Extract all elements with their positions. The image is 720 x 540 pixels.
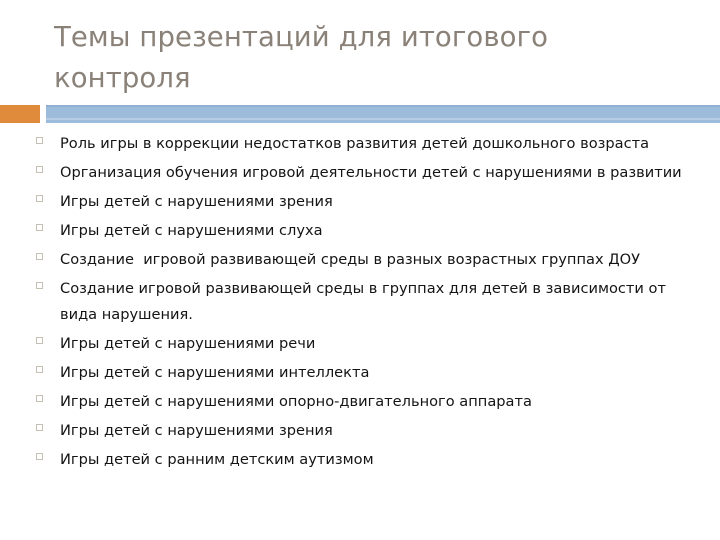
list-item: Игры детей с ранним детским аутизмом — [30, 447, 706, 473]
bullet-list: Роль игры в коррекции недостатков развит… — [30, 131, 706, 476]
page-title: Темы презентаций для итогового контроля — [54, 17, 654, 99]
hollow-square-bullet-icon — [36, 253, 43, 260]
hollow-square-bullet-icon — [36, 366, 43, 373]
list-item: Игры детей с нарушениями зрения — [30, 189, 706, 215]
list-item-label: Игры детей с нарушениями речи — [60, 331, 706, 357]
hollow-square-bullet-icon — [36, 224, 43, 231]
list-item-label: Игры детей с нарушениями интеллекта — [60, 360, 706, 386]
list-item-label: Игры детей с нарушениями зрения — [60, 189, 706, 215]
list-item: Создание игровой развивающей среды в гру… — [30, 276, 706, 328]
list-item-label: Роль игры в коррекции недостатков развит… — [60, 131, 706, 157]
presentation-slide: Темы презентаций для итогового контроля … — [0, 0, 720, 540]
list-item-label: Игры детей с ранним детским аутизмом — [60, 447, 706, 473]
divider-blue-top-edge — [46, 105, 720, 107]
divider-blue-bar — [46, 105, 720, 123]
list-item: Игры детей с нарушениями опорно-двигател… — [30, 389, 706, 415]
hollow-square-bullet-icon — [36, 166, 43, 173]
hollow-square-bullet-icon — [36, 195, 43, 202]
divider-blue-inner-line — [46, 118, 720, 120]
hollow-square-bullet-icon — [36, 282, 43, 289]
divider-orange-block — [0, 105, 40, 123]
hollow-square-bullet-icon — [36, 137, 43, 144]
hollow-square-bullet-icon — [36, 395, 43, 402]
list-item: Организация обучения игровой деятельност… — [30, 160, 706, 186]
hollow-square-bullet-icon — [36, 453, 43, 460]
list-item: Игры детей с нарушениями зрения — [30, 418, 706, 444]
list-item: Игры детей с нарушениями речи — [30, 331, 706, 357]
list-item-label: Игры детей с нарушениями опорно-двигател… — [60, 389, 706, 415]
list-item-label: Игры детей с нарушениями слуха — [60, 218, 706, 244]
list-item: Роль игры в коррекции недостатков развит… — [30, 131, 706, 157]
list-item: Создание игровой развивающей среды в раз… — [30, 247, 706, 273]
list-item-label: Организация обучения игровой деятельност… — [60, 160, 706, 186]
title-divider — [0, 105, 720, 123]
hollow-square-bullet-icon — [36, 337, 43, 344]
list-item: Игры детей с нарушениями интеллекта — [30, 360, 706, 386]
list-item: Игры детей с нарушениями слуха — [30, 218, 706, 244]
list-item-label: Игры детей с нарушениями зрения — [60, 418, 706, 444]
slide-title-block: Темы презентаций для итогового контроля — [54, 17, 654, 99]
list-item-label: Создание игровой развивающей среды в раз… — [60, 247, 706, 273]
hollow-square-bullet-icon — [36, 424, 43, 431]
list-item-label: Создание игровой развивающей среды в гру… — [60, 276, 706, 328]
